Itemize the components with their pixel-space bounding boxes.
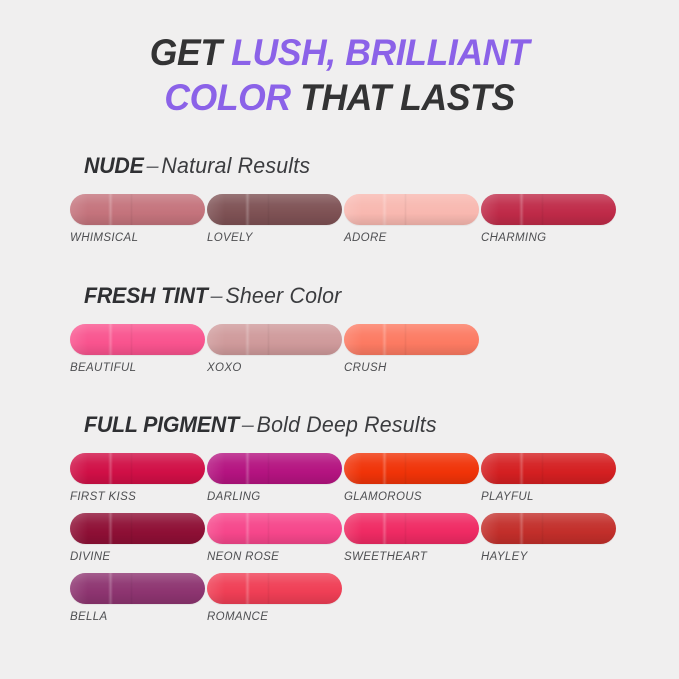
swatch-shadow-streak bbox=[404, 453, 407, 484]
swatch-cell-lovely[interactable]: LOVELY bbox=[207, 194, 342, 244]
swatch-color-hayley[interactable] bbox=[481, 513, 616, 544]
swatch-label: XOXO bbox=[207, 362, 342, 374]
section-title-full-pigment: FULL PIGMENT–Bold Deep Results bbox=[84, 414, 599, 436]
swatch-cap-highlight bbox=[70, 453, 88, 484]
swatch-label: CHARMING bbox=[481, 232, 616, 244]
swatch-sheen-streak bbox=[108, 453, 113, 484]
swatch-color-neon-rose[interactable] bbox=[207, 513, 342, 544]
swatch-label: BELLA bbox=[70, 611, 205, 623]
headline-line-2: COLOR THAT LASTS bbox=[14, 75, 666, 120]
swatch-sheen-streak bbox=[108, 194, 113, 225]
swatch-cell-neon-rose[interactable]: NEON ROSE bbox=[207, 513, 342, 563]
swatch-sheen-overlay bbox=[344, 324, 479, 355]
swatch-row: DIVINE NEON ROSE bbox=[70, 513, 615, 573]
section-title-light: Sheer Color bbox=[225, 283, 341, 308]
swatch-color-whimsical[interactable] bbox=[70, 194, 205, 225]
swatch-sheen-streak bbox=[245, 573, 250, 604]
swatch-grid-fresh-tint: BEAUTIFUL XOXO bbox=[70, 324, 615, 384]
swatch-color-darling[interactable] bbox=[207, 453, 342, 484]
swatch-cap-highlight bbox=[70, 513, 88, 544]
section-nude: NUDE–Natural Results WHIMSICAL bbox=[70, 155, 615, 254]
swatch-cell-first-kiss[interactable]: FIRST KISS bbox=[70, 453, 205, 503]
swatch-shadow-streak bbox=[267, 573, 270, 604]
swatch-cell-bella[interactable]: BELLA bbox=[70, 573, 205, 623]
section-title-fresh-tint: FRESH TINT–Sheer Color bbox=[84, 285, 599, 307]
headline-line1-accent: LUSH, BRILLIANT bbox=[231, 32, 529, 73]
swatch-label: LOVELY bbox=[207, 232, 342, 244]
swatch-shadow-streak bbox=[130, 324, 133, 355]
swatch-label: BEAUTIFUL bbox=[70, 362, 205, 374]
swatch-sheen-overlay bbox=[207, 453, 342, 484]
section-title-strong: FRESH TINT bbox=[84, 283, 208, 308]
swatch-cell-playful[interactable]: PLAYFUL bbox=[481, 453, 616, 503]
swatch-color-first-kiss[interactable] bbox=[70, 453, 205, 484]
swatch-sheen-streak bbox=[245, 453, 250, 484]
swatch-sheen-streak bbox=[382, 453, 387, 484]
section-title-light: Natural Results bbox=[161, 153, 310, 178]
swatch-shadow-streak bbox=[267, 194, 270, 225]
section-fresh-tint: FRESH TINT–Sheer Color BEAUTIFUL bbox=[70, 285, 615, 384]
swatch-cap-highlight bbox=[70, 324, 88, 355]
swatch-color-lovely[interactable] bbox=[207, 194, 342, 225]
swatch-sheen-overlay bbox=[344, 513, 479, 544]
swatch-cap-highlight bbox=[207, 453, 225, 484]
section-title-strong: NUDE bbox=[84, 153, 144, 178]
swatch-color-xoxo[interactable] bbox=[207, 324, 342, 355]
swatch-sheen-overlay bbox=[70, 324, 205, 355]
swatch-shadow-streak bbox=[541, 194, 544, 225]
swatch-sheen-overlay bbox=[207, 573, 342, 604]
swatch-cell-glamorous[interactable]: GLAMOROUS bbox=[344, 453, 479, 503]
swatch-cap-highlight bbox=[344, 513, 362, 544]
swatch-sheen-overlay bbox=[481, 453, 616, 484]
swatch-color-sweetheart[interactable] bbox=[344, 513, 479, 544]
swatch-sheen-streak bbox=[108, 324, 113, 355]
swatch-color-divine[interactable] bbox=[70, 513, 205, 544]
swatch-sheen-overlay bbox=[344, 453, 479, 484]
swatch-cap-highlight bbox=[481, 194, 499, 225]
swatch-color-crush[interactable] bbox=[344, 324, 479, 355]
swatch-sheen-overlay bbox=[70, 513, 205, 544]
swatch-cap-highlight bbox=[344, 194, 362, 225]
swatch-sheen-streak bbox=[519, 513, 524, 544]
section-title-nude: NUDE–Natural Results bbox=[84, 155, 599, 177]
swatch-cap-highlight bbox=[207, 324, 225, 355]
swatch-label: WHIMSICAL bbox=[70, 232, 205, 244]
swatch-sheen-overlay bbox=[344, 194, 479, 225]
swatch-label: SWEETHEART bbox=[344, 551, 479, 563]
swatch-color-charming[interactable] bbox=[481, 194, 616, 225]
swatch-cell-hayley[interactable]: HAYLEY bbox=[481, 513, 616, 563]
swatch-cap-highlight bbox=[481, 513, 499, 544]
swatch-row: WHIMSICAL LOVELY bbox=[70, 194, 615, 254]
swatch-cell-darling[interactable]: DARLING bbox=[207, 453, 342, 503]
swatch-sheen-overlay bbox=[481, 513, 616, 544]
swatch-color-glamorous[interactable] bbox=[344, 453, 479, 484]
swatch-shadow-streak bbox=[541, 513, 544, 544]
swatch-cell-sweetheart[interactable]: SWEETHEART bbox=[344, 513, 479, 563]
swatch-cell-crush[interactable]: CRUSH bbox=[344, 324, 479, 374]
swatch-shadow-streak bbox=[404, 324, 407, 355]
swatch-cell-beautiful[interactable]: BEAUTIFUL bbox=[70, 324, 205, 374]
swatch-row: BELLA ROMANCE bbox=[70, 573, 615, 633]
swatch-cell-xoxo[interactable]: XOXO bbox=[207, 324, 342, 374]
swatch-sheen-overlay bbox=[70, 194, 205, 225]
swatch-color-beautiful[interactable] bbox=[70, 324, 205, 355]
swatch-shadow-streak bbox=[130, 573, 133, 604]
swatch-label: ADORE bbox=[344, 232, 479, 244]
swatch-cell-charming[interactable]: CHARMING bbox=[481, 194, 616, 244]
section-title-dash: – bbox=[144, 153, 162, 178]
swatch-cap-highlight bbox=[344, 324, 362, 355]
swatch-cell-whimsical[interactable]: WHIMSICAL bbox=[70, 194, 205, 244]
swatch-sheen-streak bbox=[245, 324, 250, 355]
swatch-shadow-streak bbox=[130, 453, 133, 484]
swatch-sheen-overlay bbox=[70, 453, 205, 484]
headline-line2-accent: COLOR bbox=[164, 77, 290, 118]
swatch-sheen-streak bbox=[382, 194, 387, 225]
swatch-row: BEAUTIFUL XOXO bbox=[70, 324, 615, 384]
headline-line1-plain: GET bbox=[150, 32, 231, 73]
swatch-sheen-overlay bbox=[207, 513, 342, 544]
swatch-sheen-streak bbox=[382, 324, 387, 355]
swatch-shadow-streak bbox=[267, 453, 270, 484]
section-title-dash: – bbox=[208, 283, 226, 308]
swatch-sheen-overlay bbox=[70, 573, 205, 604]
swatch-cell-divine[interactable]: DIVINE bbox=[70, 513, 205, 563]
swatch-cap-highlight bbox=[207, 194, 225, 225]
swatch-cap-highlight bbox=[70, 194, 88, 225]
headline-line2-plain: THAT LASTS bbox=[291, 77, 515, 118]
swatch-label: FIRST KISS bbox=[70, 491, 205, 503]
swatch-sheen-overlay bbox=[207, 194, 342, 225]
swatch-cap-highlight bbox=[344, 453, 362, 484]
swatch-sheen-overlay bbox=[481, 194, 616, 225]
swatch-cap-highlight bbox=[207, 513, 225, 544]
swatch-sheen-streak bbox=[245, 194, 250, 225]
swatch-sheen-streak bbox=[519, 194, 524, 225]
swatch-shadow-streak bbox=[130, 194, 133, 225]
section-title-light: Bold Deep Results bbox=[257, 412, 437, 437]
shade-chart-page: GET LUSH, BRILLIANT COLOR THAT LASTS NUD… bbox=[0, 0, 679, 679]
swatch-cell-adore[interactable]: ADORE bbox=[344, 194, 479, 244]
swatch-shadow-streak bbox=[267, 324, 270, 355]
swatch-label: PLAYFUL bbox=[481, 491, 616, 503]
swatch-label: NEON ROSE bbox=[207, 551, 342, 563]
swatch-label: CRUSH bbox=[344, 362, 479, 374]
swatch-cap-highlight bbox=[481, 453, 499, 484]
swatch-sheen-streak bbox=[382, 513, 387, 544]
swatch-grid-full-pigment: FIRST KISS DARLING bbox=[70, 453, 615, 633]
swatch-color-adore[interactable] bbox=[344, 194, 479, 225]
swatch-sheen-streak bbox=[108, 513, 113, 544]
swatch-shadow-streak bbox=[404, 194, 407, 225]
swatch-row: FIRST KISS DARLING bbox=[70, 453, 615, 513]
swatch-shadow-streak bbox=[541, 453, 544, 484]
swatch-sheen-overlay bbox=[207, 324, 342, 355]
swatch-shadow-streak bbox=[404, 513, 407, 544]
swatch-label: ROMANCE bbox=[207, 611, 342, 623]
swatch-color-romance[interactable] bbox=[207, 573, 342, 604]
swatch-sheen-streak bbox=[108, 573, 113, 604]
page-headline: GET LUSH, BRILLIANT COLOR THAT LASTS bbox=[14, 30, 666, 120]
swatch-label: DIVINE bbox=[70, 551, 205, 563]
swatch-shadow-streak bbox=[130, 513, 133, 544]
swatch-label: GLAMOROUS bbox=[344, 491, 479, 503]
swatch-color-bella[interactable] bbox=[70, 573, 205, 604]
section-title-strong: FULL PIGMENT bbox=[84, 412, 239, 437]
swatch-sheen-streak bbox=[245, 513, 250, 544]
swatch-cell-romance[interactable]: ROMANCE bbox=[207, 573, 342, 623]
swatch-cap-highlight bbox=[70, 573, 88, 604]
section-full-pigment: FULL PIGMENT–Bold Deep Results FIRST KIS… bbox=[70, 414, 615, 633]
swatch-cap-highlight bbox=[207, 573, 225, 604]
headline-line-1: GET LUSH, BRILLIANT bbox=[14, 30, 666, 75]
swatch-grid-nude: WHIMSICAL LOVELY bbox=[70, 194, 615, 254]
swatch-label: HAYLEY bbox=[481, 551, 616, 563]
section-title-dash: – bbox=[239, 412, 257, 437]
swatch-color-playful[interactable] bbox=[481, 453, 616, 484]
swatch-shadow-streak bbox=[267, 513, 270, 544]
swatch-label: DARLING bbox=[207, 491, 342, 503]
swatch-sheen-streak bbox=[519, 453, 524, 484]
